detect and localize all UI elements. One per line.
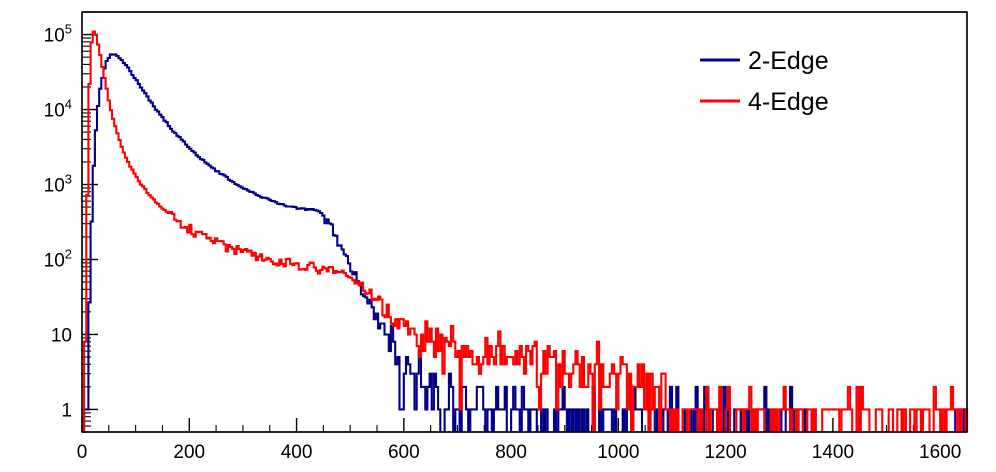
x-tick-label: 1600 <box>919 442 961 463</box>
histogram-plot: 1101021031041050200400600800100012001400… <box>0 0 996 472</box>
legend-label-2-edge: 2-Edge <box>748 47 829 75</box>
legend-label-4-edge: 4-Edge <box>748 88 829 116</box>
x-tick-label: 1400 <box>812 442 854 463</box>
x-tick-label: 1200 <box>704 442 746 463</box>
x-tick-label: 1000 <box>597 442 639 463</box>
y-tick-label: 10 <box>51 325 72 346</box>
x-tick-label: 800 <box>495 442 527 463</box>
y-tick-label: 1 <box>61 400 72 421</box>
x-tick-label: 200 <box>173 442 205 463</box>
x-tick-label: 0 <box>77 442 88 463</box>
x-tick-label: 600 <box>388 442 420 463</box>
x-tick-label: 400 <box>281 442 313 463</box>
plot-canvas: 1101021031041050200400600800100012001400… <box>0 0 996 472</box>
